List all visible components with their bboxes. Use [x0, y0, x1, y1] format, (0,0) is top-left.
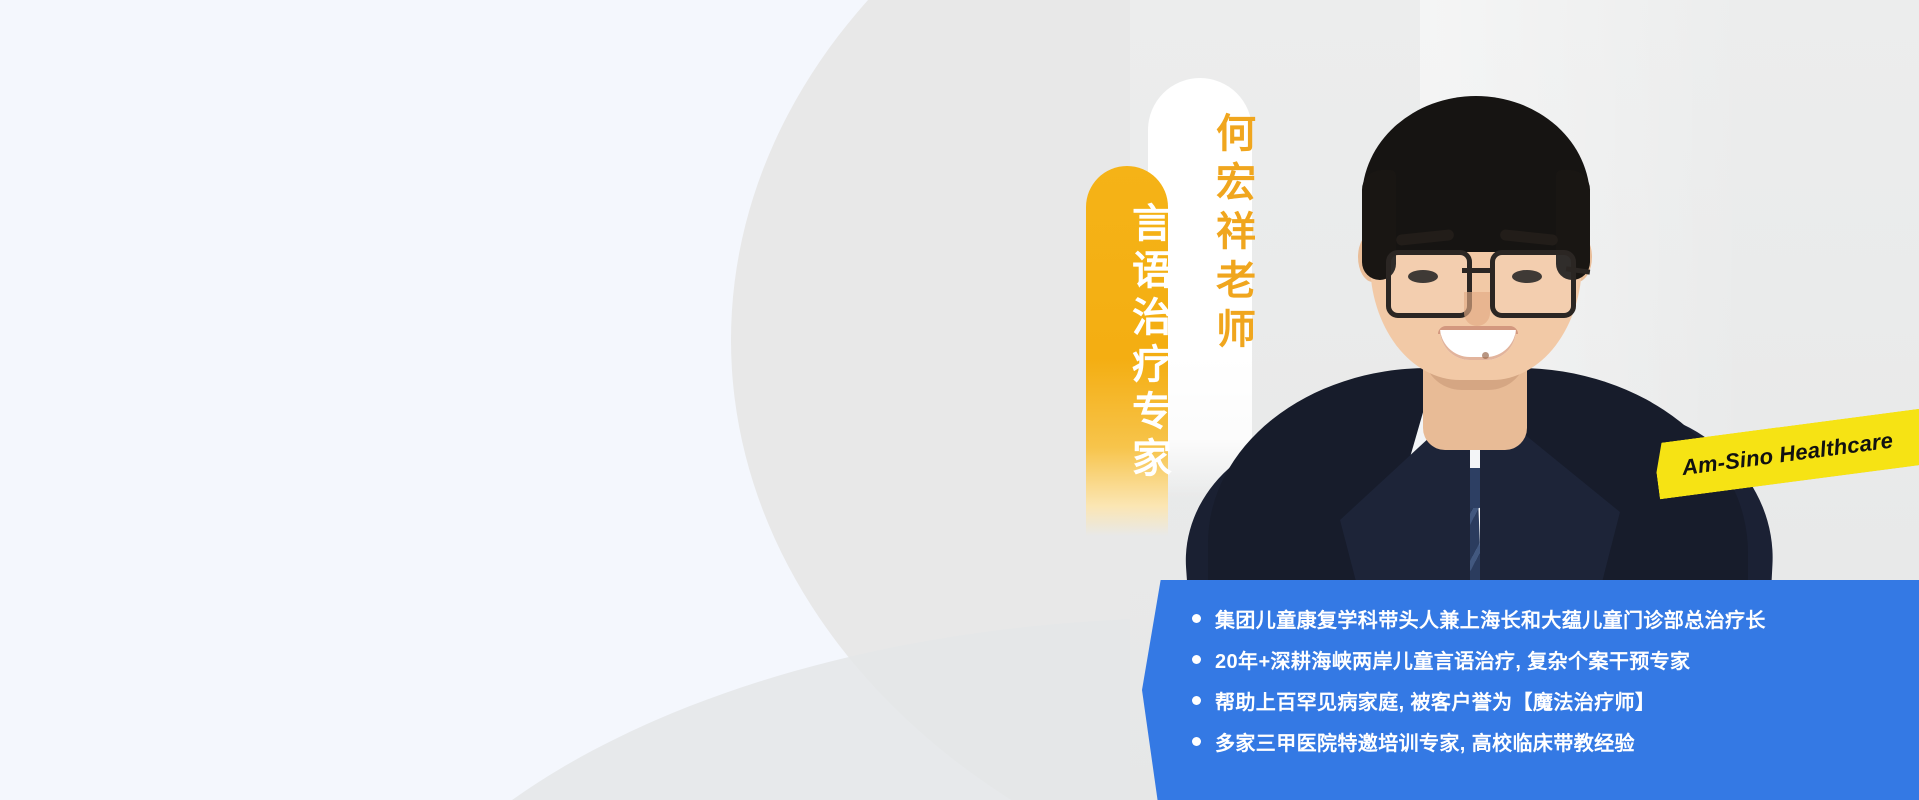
- portrait-eyeglasses-bridge: [1462, 268, 1490, 273]
- specialty-card-pill: 言语治疗专家: [1086, 166, 1168, 536]
- credential-item: 多家三甲医院特邀培训专家, 高校临床带教经验: [1192, 725, 1766, 757]
- credential-text: 集团儿童康复学科带头人兼上海长和大蕴儿童门诊部总治疗长: [1215, 604, 1766, 633]
- credentials-list: 集团儿童康复学科带头人兼上海长和大蕴儿童门诊部总治疗长 20年+深耕海峡两岸儿童…: [1192, 602, 1766, 766]
- credential-text: 帮助上百罕见病家庭, 被客户誉为【魔法治疗师】: [1215, 686, 1655, 715]
- bullet-dot-icon: [1192, 696, 1201, 705]
- bullet-dot-icon: [1192, 737, 1201, 746]
- credential-item: 帮助上百罕见病家庭, 被客户誉为【魔法治疗师】: [1192, 684, 1766, 716]
- credential-item: 集团儿童康复学科带头人兼上海长和大蕴儿童门诊部总治疗长: [1192, 602, 1766, 634]
- bullet-dot-icon: [1192, 655, 1201, 664]
- bullet-dot-icon: [1192, 614, 1201, 623]
- specialty-label: 言语治疗专家: [1086, 202, 1168, 484]
- portrait-chin-mole: [1482, 352, 1489, 359]
- portrait-eyeglasses-lens-left: [1386, 250, 1472, 318]
- credential-text: 多家三甲医院特邀培训专家, 高校临床带教经验: [1215, 727, 1635, 756]
- credentials-panel: 集团儿童康复学科带头人兼上海长和大蕴儿童门诊部总治疗长 20年+深耕海峡两岸儿童…: [1142, 580, 1919, 800]
- credential-item: 20年+深耕海峡两岸儿童言语治疗, 复杂个案干预专家: [1192, 643, 1766, 675]
- credential-text: 20年+深耕海峡两岸儿童言语治疗, 复杂个案干预专家: [1215, 645, 1690, 674]
- promotional-banner: 何宏祥老师 言语治疗专家: [0, 0, 1919, 800]
- portrait-eyeglasses-lens-right: [1490, 250, 1576, 318]
- portrait-nose: [1464, 292, 1490, 326]
